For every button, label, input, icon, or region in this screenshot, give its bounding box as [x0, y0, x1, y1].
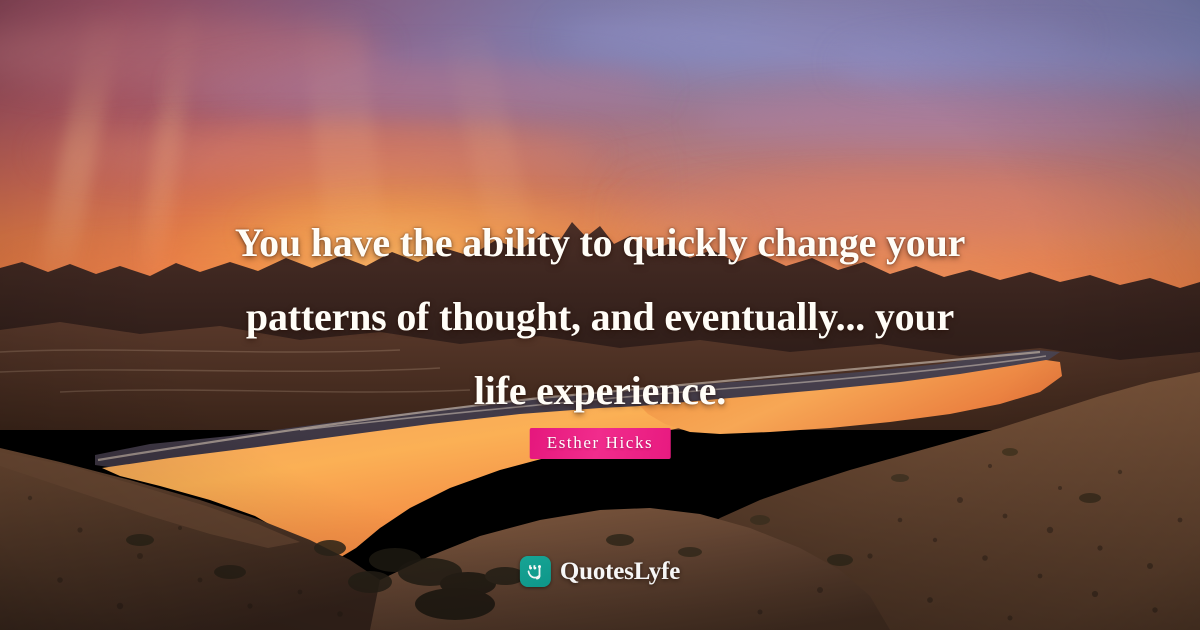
quoteslyfe-logo[interactable]: QuotesLyfe	[520, 556, 680, 587]
quote-line-1: You have the ability to quickly change y…	[90, 206, 1110, 280]
author-name: Esther Hicks	[547, 433, 654, 452]
quoteslyfe-wordmark: QuotesLyfe	[560, 558, 680, 586]
author-badge[interactable]: Esther Hicks	[530, 428, 671, 459]
quote-line-3: life experience.	[90, 354, 1110, 428]
quote-text-block: You have the ability to quickly change y…	[0, 206, 1200, 428]
quote-card: You have the ability to quickly change y…	[0, 0, 1200, 630]
quote-line-2: patterns of thought, and eventually... y…	[90, 280, 1110, 354]
quote-marks-icon	[520, 556, 551, 587]
